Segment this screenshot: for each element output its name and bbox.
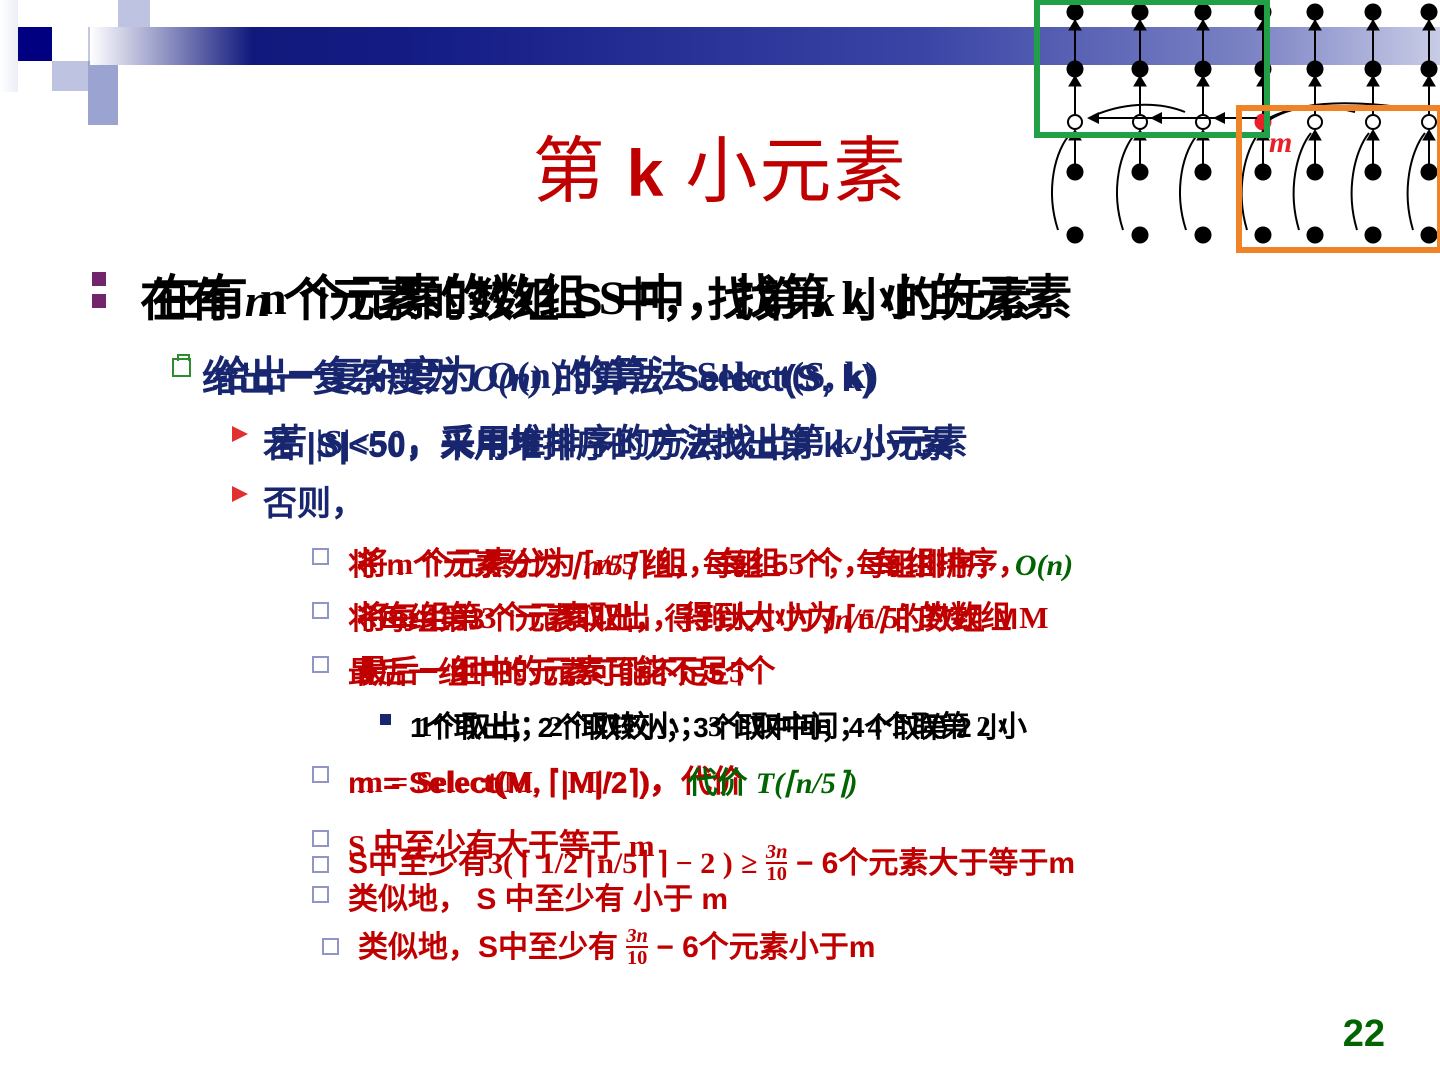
deco-square-light-1	[52, 61, 88, 91]
bullet-line-4: 否则，	[263, 476, 365, 525]
bullet-marker-level4-f	[312, 856, 329, 873]
bullet-line-7: 最后一组中的元素可能不足5个	[348, 648, 755, 692]
page-number: 22	[1343, 1013, 1385, 1056]
bullet-marker-level4-h	[322, 938, 339, 955]
bullet-line-5: 将 n 个元素分为 ⌈n/5⌉ 组，每组 5 个，每组排序， O(n)	[348, 540, 1073, 584]
bullet-line-5-mid: 组，每组 5 个，每组排序，	[643, 549, 1006, 582]
bullet-line-12-frac-den: 10	[626, 946, 648, 968]
deco-square-mid-1	[88, 61, 118, 91]
bullet-line-1-var-n: n	[245, 275, 271, 326]
bullet-line-9: m = Select(M, ⌈|M|/2⌉)， 代价 T(⌈n/5⌉)	[348, 758, 858, 802]
bullet-line-3: 若 |S|<50，采用堆排序的方法找出第 k 小元素	[263, 418, 954, 467]
bullet-line-12-pre: 类似地，S中至少有	[358, 931, 618, 964]
bullet-line-2-complexity: O(n)	[471, 359, 543, 400]
bullet-line-10-frac-den: 10	[766, 862, 788, 884]
bullet-line-10-frac-num: 3n	[766, 842, 788, 862]
deco-square-white-1	[18, 0, 52, 27]
bullet-line-8: 1个取出；2个取较小；3个取中间；4个取第 2 小	[410, 706, 1007, 746]
bullet-line-5-ceil: ⌈n/5⌉	[571, 549, 634, 582]
bullet-line-6-ceil: ⌈n/5⌉	[823, 603, 886, 636]
bullet-marker-level4-c	[312, 656, 329, 673]
bullet-line-2-mid: 的算法	[554, 358, 665, 399]
bullet-line-12-frac-num: 3n	[626, 926, 648, 946]
slide-canvas: m 第 k 小元素 在有 n 个元素的数组 S 中，找第 k 小的元素 在有 n…	[0, 0, 1440, 1080]
bullet-marker-level1-a	[92, 272, 106, 286]
bullet-line-10-fraction: 3n 10	[766, 842, 788, 885]
bullet-line-9-cost: T(⌈n/5⌉)	[756, 767, 858, 800]
bullet-line-12: 类似地，S中至少有 3n 10 − 6个元素小于m	[358, 922, 875, 970]
title-suffix: 小元素	[685, 132, 907, 212]
bullet-marker-level4-d	[312, 766, 329, 783]
bullet-line-11-ghost: 类似地， S 中至少有 小于 m	[348, 874, 728, 918]
deco-square-white-4	[88, 0, 118, 27]
bullet-line-10-cmp: ≥	[741, 847, 757, 880]
bullet-line-2: 给出一复杂度为 O(n) 的算法 Select(S, k)	[202, 348, 874, 402]
title-prefix: 第	[533, 132, 607, 212]
bullet-line-5-cost: O(n)	[1015, 549, 1073, 582]
title-variable-k: k	[627, 136, 666, 210]
bullet-marker-level2-a	[172, 358, 191, 377]
bullet-line-5-pre: 将 n 个元素分为	[348, 549, 563, 582]
page-title: 第 k 小元素	[0, 112, 1440, 217]
bullet-marker-level3-b	[232, 486, 248, 502]
deco-square-gradient	[0, 0, 18, 92]
bullet-line-2-pre: 给出一复杂度为	[202, 358, 461, 399]
bullet-line-1-post: 小的元素	[848, 274, 1032, 326]
bullet-marker-level4-a	[312, 548, 329, 565]
deco-square-light-3	[118, 0, 150, 27]
bullet-line-6-post: 的数组 M	[895, 603, 1018, 636]
bullet-line-6: 将每组第3个元素取出，得到大小为 ⌈n/5⌉ 的数组 M	[348, 594, 1018, 638]
bullet-marker-level1-b	[92, 294, 106, 308]
bullet-line-10-post: − 6个元素大于等于m	[796, 847, 1075, 880]
bullet-marker-level4-b	[312, 602, 329, 619]
bullet-line-1-mid: 个元素的数组 S 中，找第	[283, 274, 799, 326]
bullet-line-9-cost-label: 代价	[687, 767, 747, 800]
deco-square-white-3	[52, 0, 88, 27]
deco-square-navy	[18, 27, 52, 61]
bullet-line-1-var-k: k	[812, 275, 835, 326]
bullet-marker-level4-g	[312, 886, 329, 903]
bullet-marker-level5-a	[380, 714, 391, 725]
bullet-line-9-pre: m = Select(M, ⌈|M|/2⌉)，	[348, 767, 679, 800]
bullet-marker-level4-e	[312, 830, 329, 847]
deco-square-white-2	[52, 27, 88, 61]
bullet-marker-level3-a	[232, 426, 248, 442]
bullet-line-12-post: − 6个元素小于m	[656, 931, 875, 964]
bullet-line-6-pre: 将每组第3个元素取出，得到大小为	[348, 603, 815, 636]
bullet-line-12-fraction: 3n 10	[626, 926, 648, 969]
bullet-line-1: 在有 n 个元素的数组 S 中，找第 k 小的元素	[140, 264, 1032, 330]
bullet-line-2-call: Select(S, k)	[675, 358, 874, 399]
bullet-line-1-pre: 在有	[140, 274, 232, 326]
